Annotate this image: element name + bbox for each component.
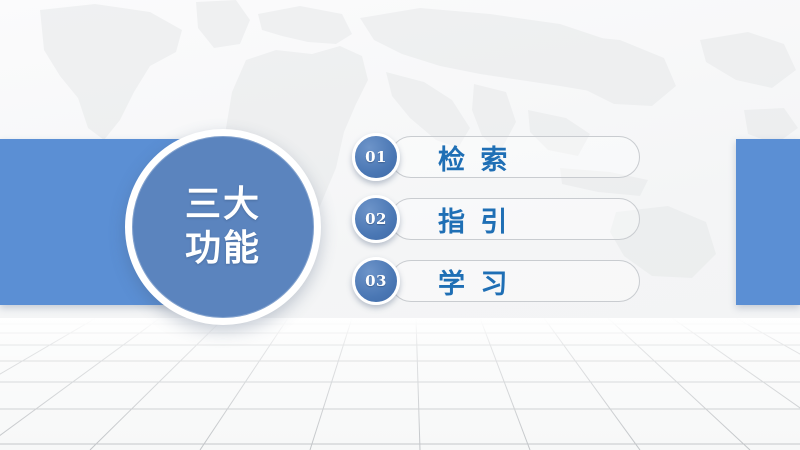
perspective-grid-floor [0, 318, 800, 450]
slide-canvas: 三大 功能 01 检 索 02 指 引 03 学 习 [0, 0, 800, 450]
right-blue-bar [736, 139, 800, 305]
list-item-label-2: 指 引 [438, 195, 510, 243]
hero-title-line-2: 功能 [185, 227, 261, 271]
number-badge-01: 01 [352, 133, 400, 181]
pill-outline-1 [390, 136, 640, 178]
pill-outline-3 [390, 260, 640, 302]
list-item-label-1: 检 索 [438, 133, 510, 181]
number-badge-02: 02 [352, 195, 400, 243]
badge-number-label: 03 [365, 272, 387, 290]
badge-number-label: 02 [365, 210, 387, 228]
pill-outline-2 [390, 198, 640, 240]
badge-number-label: 01 [365, 148, 387, 166]
number-badge-03: 03 [352, 257, 400, 305]
three-functions-circle: 三大 功能 [125, 129, 321, 325]
hero-title-line-1: 三大 [185, 183, 261, 227]
list-item-label-3: 学 习 [438, 257, 510, 305]
